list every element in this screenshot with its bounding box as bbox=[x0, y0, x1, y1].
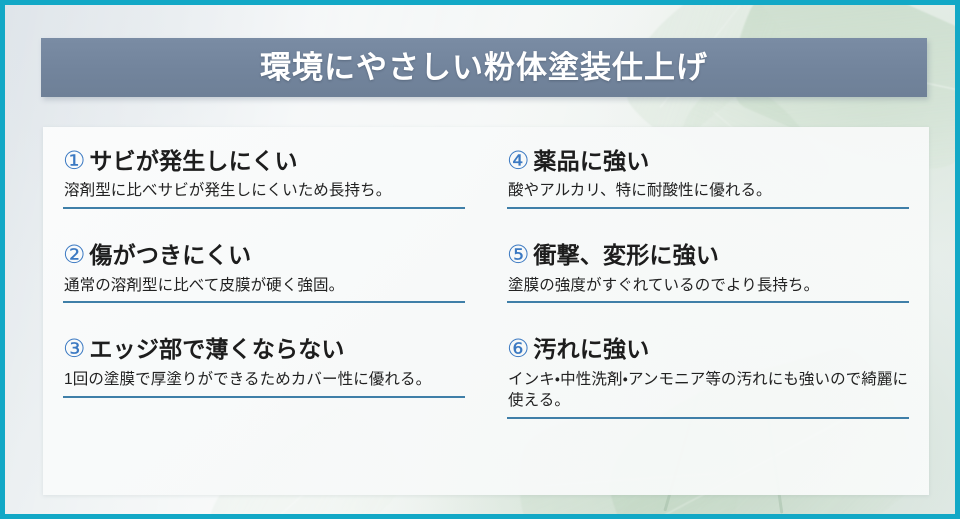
feature-title: 汚れに強い bbox=[533, 337, 649, 362]
feature-number-badge: ⑤ bbox=[507, 243, 529, 268]
feature-heading: ⑥ 汚れに強い bbox=[507, 337, 909, 362]
feature-item: ⑥ 汚れに強い インキ・中性洗剤・アンモニア等の汚れにも強いので綺麗に使える。 bbox=[507, 337, 909, 418]
feature-description: 通常の溶剤型に比べて皮膜が硬く強固。 bbox=[63, 276, 465, 304]
feature-item: ① サビが発生しにくい 溶剤型に比べサビが発生しにくいため長持ち。 bbox=[63, 149, 465, 209]
feature-item: ③ エッジ部で薄くならない 1回の塗膜で厚塗りができるためカバー性に優れる。 bbox=[63, 337, 465, 397]
feature-heading: ⑤ 衝撃、変形に強い bbox=[507, 243, 909, 268]
features-column-left: ① サビが発生しにくい 溶剤型に比べサビが発生しにくいため長持ち。 ② 傷がつき… bbox=[63, 149, 487, 477]
feature-description: 酸やアルカリ、特に耐酸性に優れる。 bbox=[507, 181, 909, 209]
feature-description: インキ・中性洗剤・アンモニア等の汚れにも強いので綺麗に使える。 bbox=[507, 370, 909, 419]
page-title: 環境にやさしい粉体塗装仕上げ bbox=[260, 52, 708, 83]
feature-heading: ① サビが発生しにくい bbox=[63, 149, 465, 174]
feature-heading: ② 傷がつきにくい bbox=[63, 243, 465, 268]
feature-number-badge: ③ bbox=[63, 337, 85, 362]
feature-heading: ④ 薬品に強い bbox=[507, 149, 909, 174]
feature-title: サビが発生しにくい bbox=[89, 149, 297, 174]
feature-title: 傷がつきにくい bbox=[89, 243, 251, 268]
feature-number-badge: ② bbox=[63, 243, 85, 268]
feature-heading: ③ エッジ部で薄くならない bbox=[63, 337, 465, 362]
header-banner: 環境にやさしい粉体塗装仕上げ bbox=[41, 38, 927, 97]
feature-description: 塗膜の強度がすぐれているのでより長持ち。 bbox=[507, 276, 909, 304]
feature-item: ② 傷がつきにくい 通常の溶剤型に比べて皮膜が硬く強固。 bbox=[63, 243, 465, 303]
feature-number-badge: ④ bbox=[507, 149, 529, 174]
poster-root: 環境にやさしい粉体塗装仕上げ ① サビが発生しにくい 溶剤型に比べサビが発生しに… bbox=[0, 0, 960, 519]
feature-title: 衝撃、変形に強い bbox=[533, 243, 719, 268]
features-column-right: ④ 薬品に強い 酸やアルカリ、特に耐酸性に優れる。 ⑤ 衝撃、変形に強い 塗膜の… bbox=[487, 149, 909, 477]
feature-title: 薬品に強い bbox=[533, 149, 649, 174]
feature-number-badge: ⑥ bbox=[507, 337, 529, 362]
feature-item: ⑤ 衝撃、変形に強い 塗膜の強度がすぐれているのでより長持ち。 bbox=[507, 243, 909, 303]
feature-description: 1回の塗膜で厚塗りができるためカバー性に優れる。 bbox=[63, 370, 465, 398]
feature-title: エッジ部で薄くならない bbox=[89, 337, 344, 362]
feature-description: 溶剤型に比べサビが発生しにくいため長持ち。 bbox=[63, 181, 465, 209]
feature-item: ④ 薬品に強い 酸やアルカリ、特に耐酸性に優れる。 bbox=[507, 149, 909, 209]
features-card: ① サビが発生しにくい 溶剤型に比べサビが発生しにくいため長持ち。 ② 傷がつき… bbox=[43, 127, 929, 495]
feature-number-badge: ① bbox=[63, 149, 85, 174]
